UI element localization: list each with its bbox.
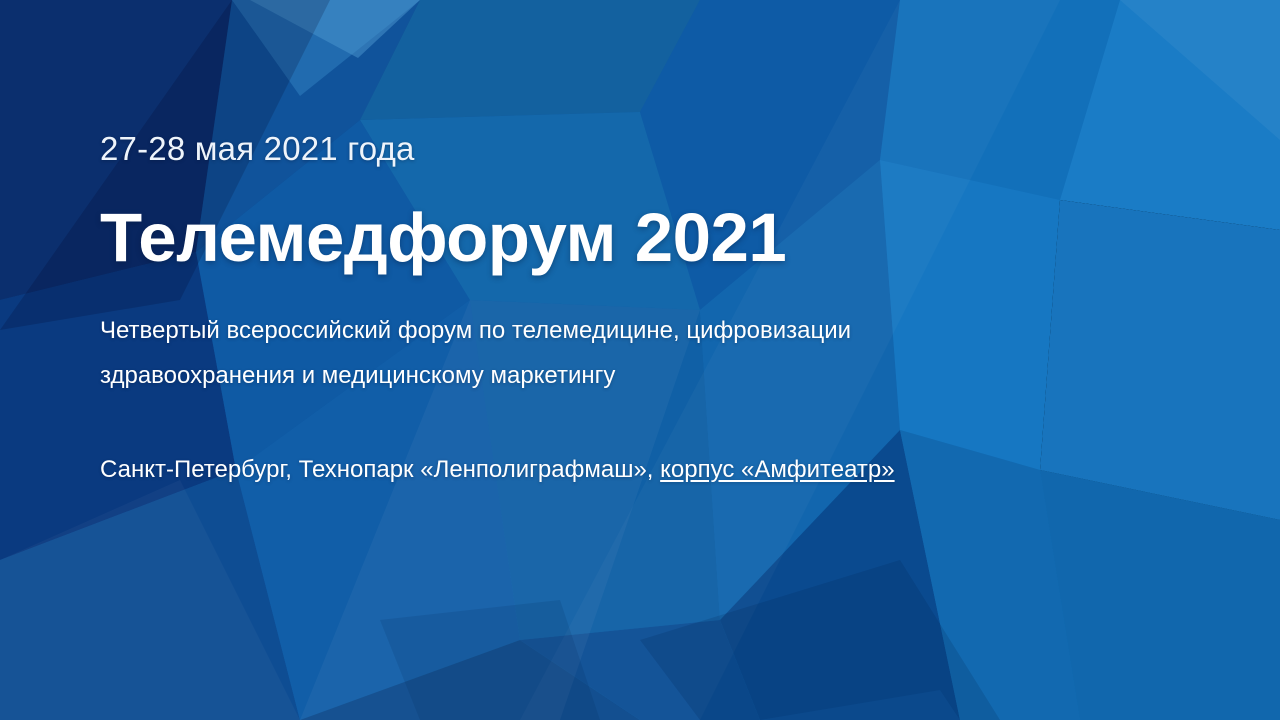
event-venue-link[interactable]: корпус «Амфитеатр» [660, 456, 894, 483]
event-date: 27-28 мая 2021 года [100, 130, 415, 168]
event-subtitle-line-1: Четвертый всероссийский форум по телемед… [100, 308, 1110, 353]
event-venue-text: Санкт-Петербург, Технопарк «Ленполиграфм… [100, 456, 660, 483]
partner-logo-strip: Sk Сколково лет [0, 520, 1280, 720]
event-venue: Санкт-Петербург, Технопарк «Ленполиграфм… [100, 456, 895, 484]
presentation-slide: 27-28 мая 2021 года Телемедфорум 2021 Че… [0, 0, 1280, 720]
event-subtitle: Четвертый всероссийский форум по телемед… [100, 308, 1110, 398]
event-subtitle-line-2: здравоохранения и медицинскому маркетинг… [100, 353, 1110, 398]
page-title: Телемедфорум 2021 [100, 198, 786, 277]
